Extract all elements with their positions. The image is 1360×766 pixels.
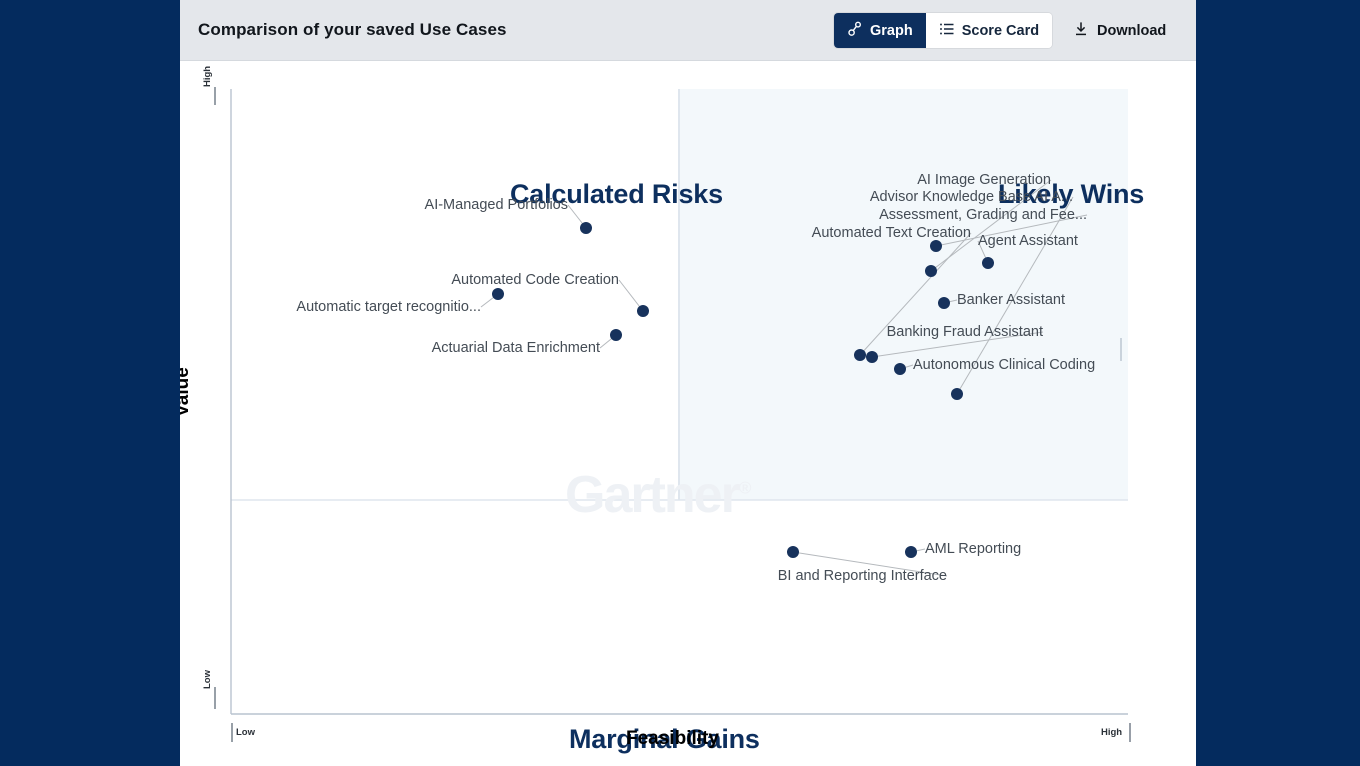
data-point[interactable] [580,222,592,234]
data-point-label: AML Reporting [925,541,1021,557]
data-point[interactable] [492,288,504,300]
data-point-label: Automatic target recognitio... [296,299,481,315]
data-point[interactable] [905,546,917,558]
download-button[interactable]: Download [1067,13,1172,48]
data-point[interactable] [925,265,937,277]
data-point[interactable] [951,388,963,400]
y-axis-low-label: Low [202,670,213,689]
data-point-label: Agent Assistant [978,233,1078,249]
data-point[interactable] [982,257,994,269]
quadrant-chart: Calculated Risks Likely Wins Marginal Ga… [180,61,1196,766]
data-point-label: AI Image Generation [917,172,1051,188]
download-icon [1073,21,1089,41]
data-point-label: AI-Managed Portfolios [425,197,568,213]
page-title: Comparison of your saved Use Cases [198,20,507,40]
data-point-label: Assessment, Grading and Fee... [879,207,1087,223]
graph-nodes-icon [847,21,863,41]
data-point-label: Banking Fraud Assistant [887,324,1043,340]
tab-graph-label: Graph [870,23,913,39]
data-point-label: Automated Text Creation [812,225,971,241]
y-axis-title: Value [180,367,194,417]
y-axis-high-label: High [202,66,213,87]
data-point[interactable] [854,349,866,361]
download-label: Download [1097,23,1166,39]
use-case-comparison-app: Comparison of your saved Use Cases Graph [180,0,1196,766]
data-point-label: Autonomous Clinical Coding [913,357,1095,373]
x-axis-high-label: High [1101,727,1122,738]
x-axis-title: Feasibility [626,728,719,750]
data-point-label: Actuarial Data Enrichment [432,340,600,356]
data-point[interactable] [866,351,878,363]
tab-graph[interactable]: Graph [834,13,926,48]
data-point[interactable] [894,363,906,375]
data-point-label: Banker Assistant [957,292,1065,308]
list-icon [939,21,955,41]
data-point-label: Advisor Knowledge Base AI A... [870,189,1073,205]
data-point[interactable] [930,240,942,252]
data-point[interactable] [610,329,622,341]
gartner-watermark: Gartner® [565,465,749,525]
tab-score-card-label: Score Card [962,23,1039,39]
data-point[interactable] [637,305,649,317]
data-point[interactable] [938,297,950,309]
data-point-label: Automated Code Creation [451,272,619,288]
chart-canvas [180,61,1196,766]
x-axis-low-label: Low [236,727,255,738]
tab-score-card[interactable]: Score Card [926,13,1052,48]
view-toggle-group: Graph Score Card [834,13,1052,48]
app-header: Comparison of your saved Use Cases Graph [180,0,1196,61]
data-point-label: BI and Reporting Interface [778,568,947,584]
data-point[interactable] [787,546,799,558]
